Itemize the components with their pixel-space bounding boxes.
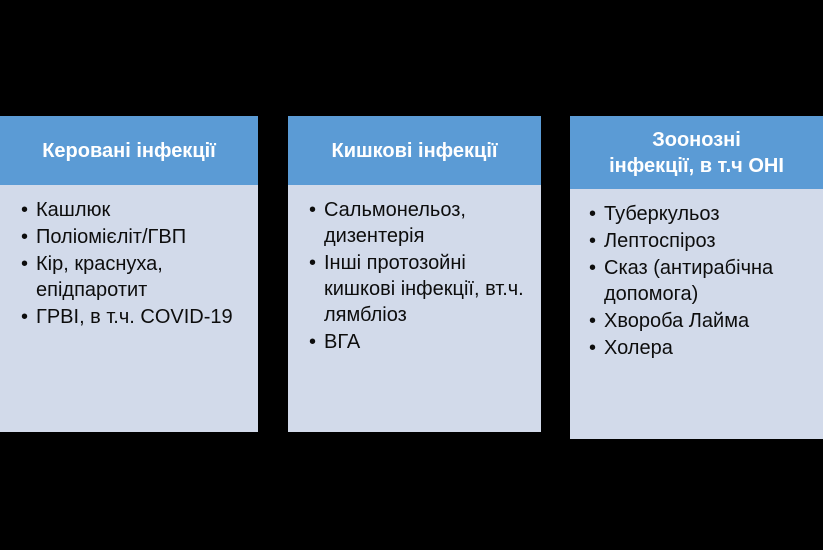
list-item-label: Кашлюк [36,199,110,221]
bullet-icon: • [309,197,316,223]
list-item: •Хвороба Лайма [580,308,813,334]
list-item: •Кашлюк [10,197,248,223]
category-column-kerovani-infekcii: Керовані інфекції •Кашлюк •Поліомієліт/Г… [0,116,258,432]
list-item-label: Лептоспіроз [604,230,716,252]
bullet-icon: • [589,335,596,361]
list-item: •ГРВІ, в т.ч. COVID-19 [10,304,248,330]
list-item: •Сальмонельоз, дизентерія [298,197,531,249]
list-item: •Поліомієліт/ГВП [10,224,248,250]
bullet-icon: • [589,228,596,254]
list-item-label: Інші протозойні кишкові інфекції, вт.ч. … [324,252,524,326]
list-item-label: Кір, краснуха, епідпаротит [36,253,163,301]
column-body-kyshkovi-infekcii: •Сальмонельоз, дизентерія •Інші протозой… [288,185,541,432]
bullet-icon: • [589,255,596,281]
list-item-label: Сальмонельоз, дизентерія [324,199,466,247]
list-item-label: ВГА [324,331,360,353]
bullet-icon: • [21,197,28,223]
bullet-list-kerovani-infekcii: •Кашлюк •Поліомієліт/ГВП •Кір, краснуха,… [10,197,248,330]
list-item: •Холера [580,335,813,361]
list-item-label: ГРВІ, в т.ч. COVID-19 [36,306,233,328]
bullet-icon: • [309,250,316,276]
category-column-kyshkovi-infekcii: Кишкові інфекції •Сальмонельоз, дизентер… [288,116,541,432]
list-item: •ВГА [298,329,531,355]
column-header-kyshkovi-infekcii: Кишкові інфекції [288,116,541,185]
column-header-line: інфекції, в т.ч ОНІ [609,153,784,179]
list-item: •Сказ (антирабічна допомога) [580,255,813,307]
column-header-zoonozni-infekcii: Зоонозні інфекції, в т.ч ОНІ [570,116,823,189]
list-item: •Лептоспіроз [580,228,813,254]
column-header-kerovani-infekcii: Керовані інфекції [0,116,258,185]
list-item: •Туберкульоз [580,201,813,227]
column-body-zoonozni-infekcii: •Туберкульоз •Лептоспіроз •Сказ (антираб… [570,189,823,439]
list-item-label: Поліомієліт/ГВП [36,226,186,248]
bullet-icon: • [21,251,28,277]
bullet-icon: • [589,308,596,334]
column-header-line: Зоонозні [609,127,784,153]
slide-canvas: Керовані інфекції •Кашлюк •Поліомієліт/Г… [0,0,823,550]
column-header-lines: Зоонозні інфекції, в т.ч ОНІ [609,127,784,179]
list-item-label: Холера [604,337,673,359]
column-header-line: Кишкові інфекції [331,138,497,164]
bullet-list-zoonozni-infekcii: •Туберкульоз •Лептоспіроз •Сказ (антираб… [580,201,813,361]
bullet-icon: • [21,224,28,250]
list-item-label: Туберкульоз [604,203,720,225]
category-column-zoonozni-infekcii: Зоонозні інфекції, в т.ч ОНІ •Туберкульо… [570,116,823,439]
column-body-kerovani-infekcii: •Кашлюк •Поліомієліт/ГВП •Кір, краснуха,… [0,185,258,432]
bullet-list-kyshkovi-infekcii: •Сальмонельоз, дизентерія •Інші протозой… [298,197,531,355]
bullet-icon: • [309,329,316,355]
list-item: •Кір, краснуха, епідпаротит [10,251,248,303]
column-header-line: Керовані інфекції [42,138,216,164]
list-item-label: Сказ (антирабічна допомога) [604,257,773,305]
list-item-label: Хвороба Лайма [604,310,749,332]
list-item: •Інші протозойні кишкові інфекції, вт.ч.… [298,250,531,328]
bullet-icon: • [21,304,28,330]
bullet-icon: • [589,201,596,227]
